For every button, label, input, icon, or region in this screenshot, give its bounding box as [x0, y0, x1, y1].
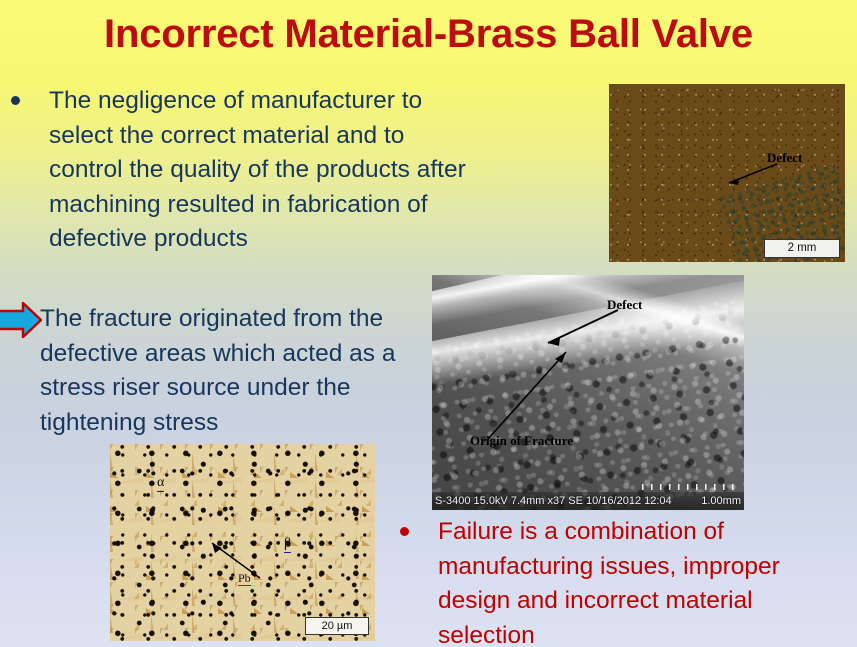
slide: Incorrect Material-Brass Ball Valve The …: [0, 0, 857, 647]
origin-pointer-arrow-icon: [480, 349, 574, 445]
figure-brass-macro-photo: Defect 2 mm: [609, 84, 845, 262]
bullet-item-1: The negligence of manufacturer to select…: [8, 84, 478, 257]
bullet-item-3: Failure is a combination of manufacturin…: [396, 515, 851, 647]
defect-label: Defect: [767, 150, 802, 166]
phase-alpha-label: α: [157, 476, 164, 492]
bullet-dot-icon: [11, 96, 20, 105]
origin-of-fracture-label: Origin of Fracture: [470, 433, 573, 449]
scale-bar-20um: 20 µm: [305, 617, 369, 635]
bullet-dot-icon: [400, 527, 409, 536]
bullet-item-2: The fracture originated from the defecti…: [0, 302, 430, 440]
phase-beta-label: β: [284, 537, 291, 553]
bullet-text-2: The fracture originated from the defecti…: [40, 302, 425, 440]
figure-optical-micrograph: α β Pb 20 µm: [110, 444, 375, 641]
sem-info-bar: S-3400 15.0kV 7.4mm x37 SE 10/16/2012 12…: [432, 492, 744, 510]
bullet-text-1: The negligence of manufacturer to select…: [49, 84, 469, 257]
figure-sem-fractograph: Defect Origin of Fracture S-3400 15.0kV …: [432, 275, 744, 510]
scale-bar-2mm: 2 mm: [764, 239, 840, 258]
lead-particle-label: Pb: [238, 572, 251, 586]
defect-label: Defect: [607, 297, 642, 313]
sem-info-left: S-3400 15.0kV 7.4mm x37 SE 10/16/2012 12…: [435, 495, 672, 507]
page-title: Incorrect Material-Brass Ball Valve: [0, 12, 857, 56]
sem-scale-ticks: [642, 484, 738, 490]
bullet-text-3: Failure is a combination of manufacturin…: [438, 515, 838, 647]
sem-info-right: 1.00mm: [701, 495, 741, 507]
